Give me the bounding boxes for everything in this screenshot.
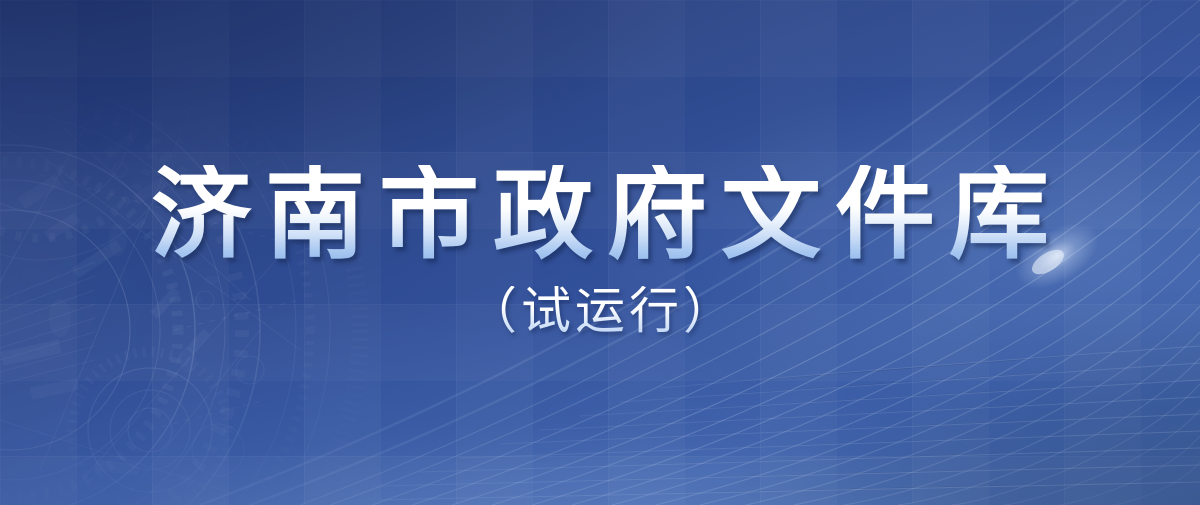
banner-content: 济南市政府文件库 （试运行） <box>0 0 1200 505</box>
page-subtitle: （试运行） <box>463 286 737 336</box>
banner-title-wrap: 济南市政府文件库 <box>137 160 1063 270</box>
banner-subtitle-wrap: （试运行） <box>463 286 737 336</box>
site-banner: 济南市政府文件库 （试运行） <box>0 0 1200 505</box>
page-title: 济南市政府文件库 <box>137 165 1063 265</box>
